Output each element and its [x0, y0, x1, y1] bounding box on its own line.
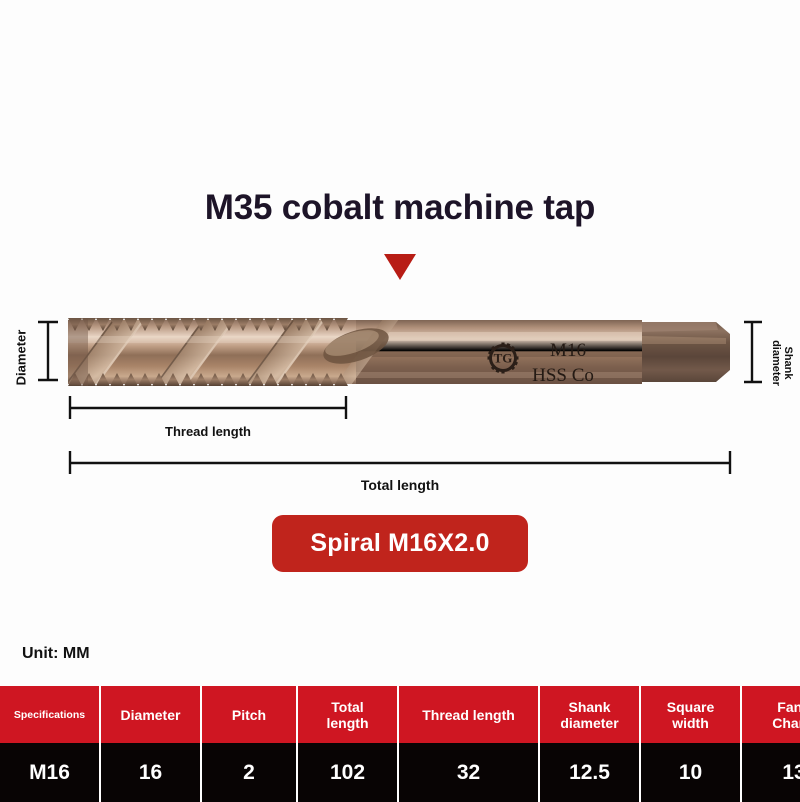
page-title: M35 cobalt machine tap	[0, 188, 800, 228]
cell-total-length: 102	[297, 743, 398, 802]
specifications-table: Specifications Diameter Pitch Totallengt…	[0, 686, 800, 802]
shank-label-line-1: Shank	[782, 346, 794, 379]
dimension-lines	[38, 322, 762, 474]
table-header-shank-diameter: Shankdiameter	[539, 686, 640, 743]
dimension-label-thread-length: Thread length	[70, 424, 346, 439]
table-header-pitch: Pitch	[201, 686, 297, 743]
engraving-line-1: M16	[550, 340, 586, 361]
table-header-row: Specifications Diameter Pitch Totallengt…	[0, 686, 800, 743]
table-header-thread-length: Thread length	[398, 686, 539, 743]
cell-shank-diameter: 12.5	[539, 743, 640, 802]
cell-diameter: 16	[100, 743, 201, 802]
table-header-square-width: Squarewidth	[640, 686, 741, 743]
product-spec-canvas: M35 cobalt machine tap	[0, 0, 800, 800]
unit-label: Unit: MM	[22, 645, 90, 663]
shank-label-line-2: diameter	[770, 340, 782, 386]
cell-thread-length: 32	[398, 743, 539, 802]
table-row: M16 16 2 102 32 12.5 10 13	[0, 743, 800, 802]
dimension-label-shank-diameter: Shank diameter	[770, 326, 794, 400]
product-illustration: TG M16 HSS Co	[0, 0, 800, 800]
table-header-fang-chang: FangChang	[741, 686, 800, 743]
table-header-diameter: Diameter	[100, 686, 201, 743]
table-body: M16 16 2 102 32 12.5 10 13	[0, 743, 800, 802]
table-header-total-length: Totallength	[297, 686, 398, 743]
cell-specifications: M16	[0, 743, 100, 802]
spec-badge: Spiral M16X2.0	[272, 515, 528, 572]
dimension-label-diameter: Diameter	[14, 316, 29, 400]
cell-square-width: 10	[640, 743, 741, 802]
triangle-down-icon	[384, 254, 416, 280]
engraving-line-2: HSS Co	[532, 365, 594, 386]
cell-pitch: 2	[201, 743, 297, 802]
table-header-specifications: Specifications	[0, 686, 100, 743]
cell-fang-chang: 13	[741, 743, 800, 802]
gear-tg-logo: TG	[488, 343, 519, 374]
svg-text:TG: TG	[494, 351, 513, 366]
dimension-label-total-length: Total length	[70, 477, 730, 493]
